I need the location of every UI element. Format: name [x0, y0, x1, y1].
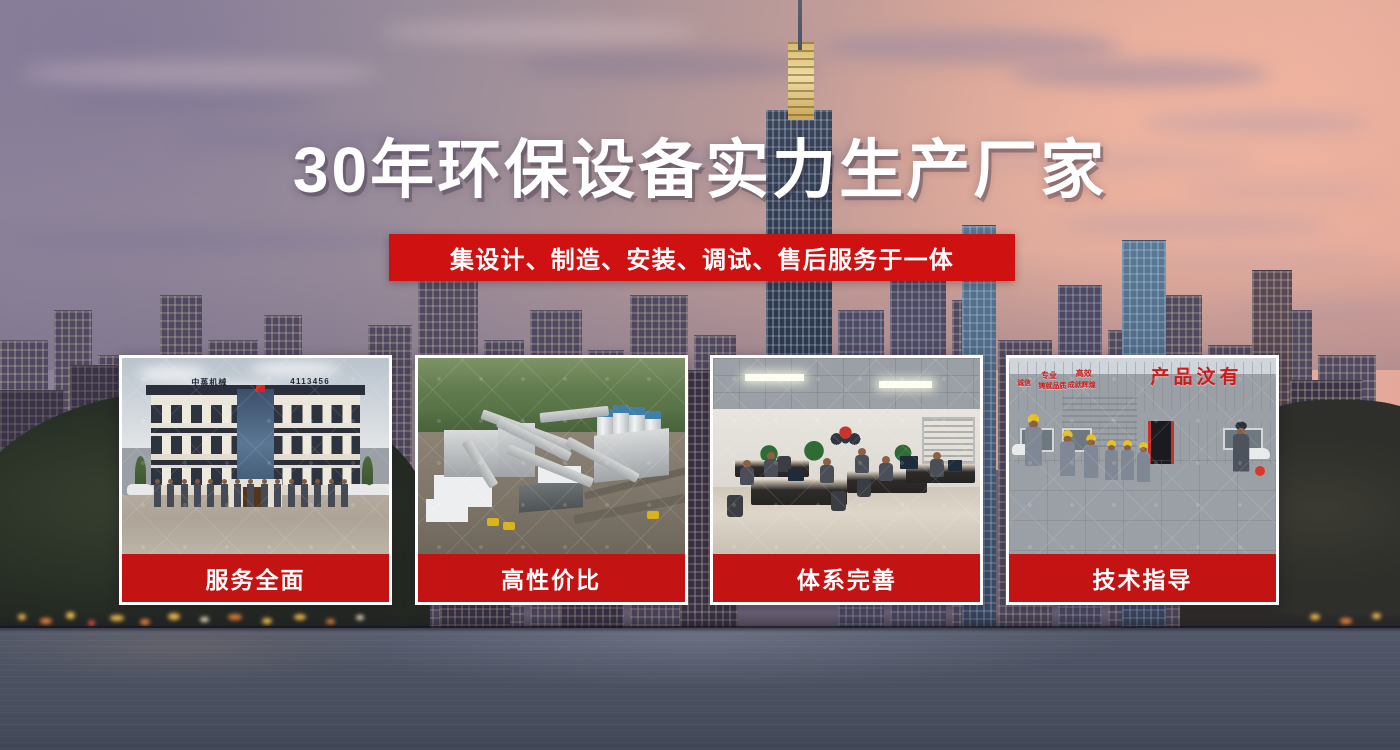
factory-sign-5: 铸就品质	[1038, 381, 1066, 391]
card-photo-office-building: 中蒸机械 4113456	[122, 358, 389, 554]
card-caption-bar: 高性价比	[418, 554, 685, 602]
feature-card-service[interactable]: 中蒸机械 4113456	[119, 355, 392, 605]
card-caption-text: 高性价比	[501, 561, 601, 595]
card-caption-text: 服务全面	[206, 561, 306, 595]
card-caption-text: 体系完善	[797, 561, 897, 595]
factory-sign-4: 成就辉煌	[1068, 380, 1096, 390]
card-caption-bar: 服务全面	[122, 554, 389, 602]
feature-card-system[interactable]: 体系完善	[710, 355, 983, 605]
building-phone-label: 4113456	[290, 377, 330, 386]
card-photo-factory-workers: 产品汶有 高效 专业 诚信 成就辉煌 铸就品质	[1009, 358, 1276, 554]
water-ripples	[0, 628, 1400, 750]
water-edge	[0, 626, 1400, 632]
tower-spire	[798, 0, 802, 50]
page-title: 30年环保设备实力生产厂家	[0, 138, 1400, 203]
card-photo-industrial-plant	[418, 358, 685, 554]
feature-card-row: 中蒸机械 4113456	[119, 355, 1279, 605]
feature-card-value[interactable]: 高性价比	[415, 355, 688, 605]
subtitle-text: 集设计、制造、安装、调试、售后服务于一体	[450, 240, 954, 275]
factory-sign-main: 产品汶有	[1150, 362, 1242, 389]
building-sign-label: 中蒸机械	[191, 377, 227, 387]
card-caption-bar: 体系完善	[713, 554, 980, 602]
feature-card-guidance[interactable]: 产品汶有 高效 专业 诚信 成就辉煌 铸就品质	[1006, 355, 1279, 605]
card-caption-text: 技术指导	[1092, 561, 1192, 595]
card-caption-bar: 技术指导	[1009, 554, 1276, 602]
factory-sign-2: 专业	[1041, 370, 1057, 381]
card-photo-office-interior	[713, 358, 980, 554]
subtitle-bar: 集设计、制造、安装、调试、售后服务于一体	[389, 234, 1015, 281]
tower-crown	[788, 42, 814, 120]
factory-sign-3: 诚信	[1017, 378, 1031, 388]
promo-banner: 30年环保设备实力生产厂家 集设计、制造、安装、调试、售后服务于一体	[0, 0, 1400, 750]
factory-sign-1: 高效	[1076, 368, 1092, 379]
